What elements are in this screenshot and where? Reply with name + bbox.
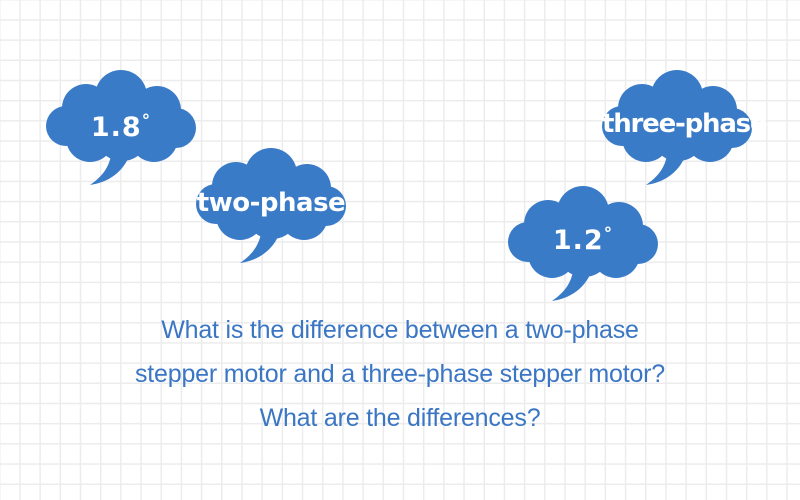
degree-symbol: ° [142, 110, 151, 130]
speech-bubble-two-phase: two-phase [196, 148, 346, 263]
bubble-label-two-phase: two-phase [196, 190, 346, 216]
speech-bubble-1-2-degree: 1.2° [508, 186, 658, 301]
caption-line-2: stepper motor and a three-phase stepper … [0, 352, 800, 396]
caption-line-1: What is the difference between a two-pha… [0, 308, 800, 352]
bubble-label-1-2-degree: 1.2° [508, 227, 658, 254]
bubble-label-1-8-degree: 1.8° [46, 114, 196, 141]
speech-bubble-three-phase: three-phase [602, 70, 752, 185]
caption-line-3: What are the differences? [0, 396, 800, 440]
degree-symbol: ° [604, 223, 613, 243]
bubble-label-three-phase: three-phase [602, 111, 752, 137]
poster-canvas: 1.8° two-phase [0, 0, 800, 500]
speech-bubble-1-8-degree: 1.8° [46, 70, 196, 185]
caption-question: What is the difference between a two-pha… [0, 308, 800, 440]
